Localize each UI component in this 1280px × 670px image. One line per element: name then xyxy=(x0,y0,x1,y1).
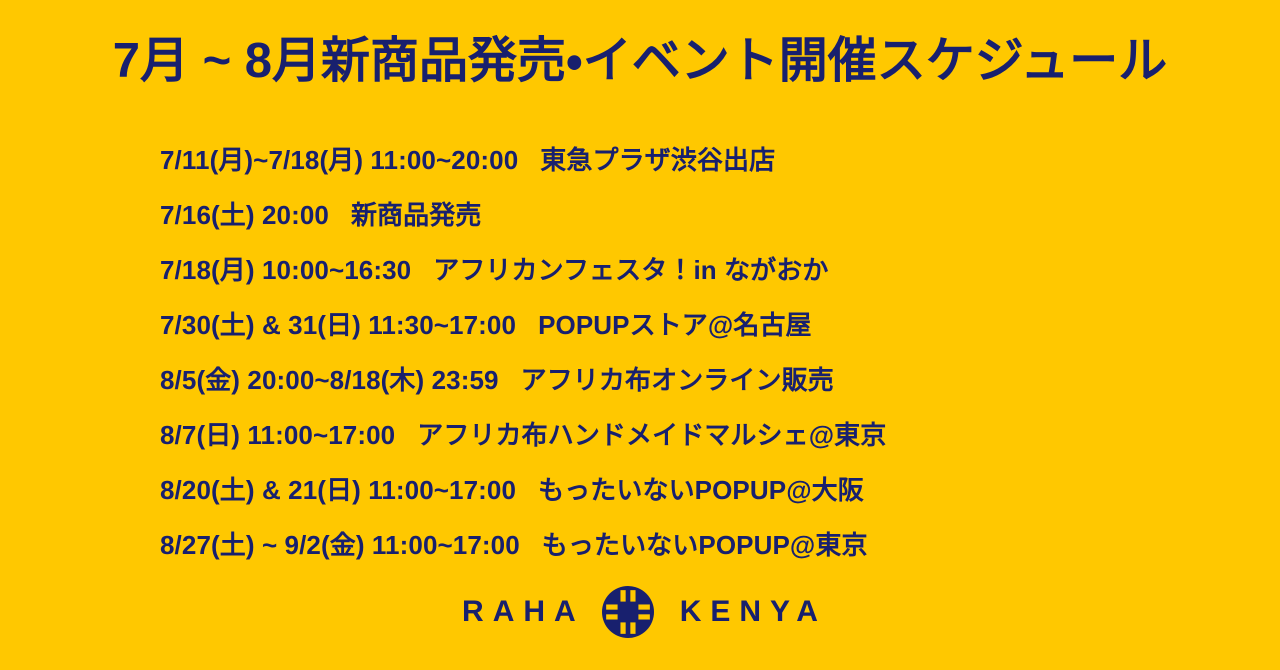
schedule-datetime: 7/16(土) 20:00 xyxy=(160,200,329,230)
list-item: 8/5(金) 20:00~8/18(木) 23:59アフリカ布オンライン販売 xyxy=(160,353,1160,408)
schedule-event-name: 東急プラザ渋谷出店 xyxy=(540,145,775,175)
list-item: 7/11(月)~7/18(月) 11:00~20:00東急プラザ渋谷出店 xyxy=(160,133,1160,188)
schedule-event-name: アフリカンフェスタ！in ながおか xyxy=(433,255,828,285)
list-item: 8/27(土) ~ 9/2(金) 11:00~17:00もったいないPOPUP@… xyxy=(160,518,1160,573)
poster-canvas: 7月 ~ 8月新商品発売・イベント開催スケジュール 7/11(月)~7/18(月… xyxy=(0,0,1280,670)
schedule-list: 7/11(月)~7/18(月) 11:00~20:00東急プラザ渋谷出店 7/1… xyxy=(160,133,1160,573)
brand-logo: RAHA KENYA xyxy=(0,586,1280,638)
schedule-event-name: POPUPストア@名古屋 xyxy=(538,310,812,340)
logo-word-kenya: KENYA xyxy=(671,597,827,627)
schedule-event-name: もったいないPOPUP@東京 xyxy=(542,530,868,560)
schedule-event-name: もったいないPOPUP@大阪 xyxy=(538,475,864,505)
list-item: 7/30(土) & 31(日) 11:30~17:00POPUPストア@名古屋 xyxy=(160,298,1160,353)
page-title: 7月 ~ 8月新商品発売・イベント開催スケジュール xyxy=(0,33,1280,91)
logo-word-raha: RAHA xyxy=(453,597,585,627)
schedule-datetime: 8/5(金) 20:00~8/18(木) 23:59 xyxy=(160,365,499,395)
schedule-datetime: 7/18(月) 10:00~16:30 xyxy=(160,255,411,285)
list-item: 7/16(土) 20:00新商品発売 xyxy=(160,188,1160,243)
raha-kenya-emblem-icon xyxy=(602,586,654,638)
list-item: 7/18(月) 10:00~16:30アフリカンフェスタ！in ながおか xyxy=(160,243,1160,298)
schedule-datetime: 8/20(土) & 21(日) 11:00~17:00 xyxy=(160,475,516,505)
schedule-event-name: 新商品発売 xyxy=(351,200,482,230)
schedule-datetime: 8/7(日) 11:00~17:00 xyxy=(160,420,395,450)
schedule-datetime: 7/11(月)~7/18(月) 11:00~20:00 xyxy=(160,145,518,175)
list-item: 8/7(日) 11:00~17:00アフリカ布ハンドメイドマルシェ@東京 xyxy=(160,408,1160,463)
schedule-event-name: アフリカ布ハンドメイドマルシェ@東京 xyxy=(417,420,886,450)
schedule-datetime: 7/30(土) & 31(日) 11:30~17:00 xyxy=(160,310,516,340)
list-item: 8/20(土) & 21(日) 11:00~17:00もったいないPOPUP@大… xyxy=(160,463,1160,518)
schedule-event-name: アフリカ布オンライン販売 xyxy=(521,365,834,395)
schedule-datetime: 8/27(土) ~ 9/2(金) 11:00~17:00 xyxy=(160,530,520,560)
